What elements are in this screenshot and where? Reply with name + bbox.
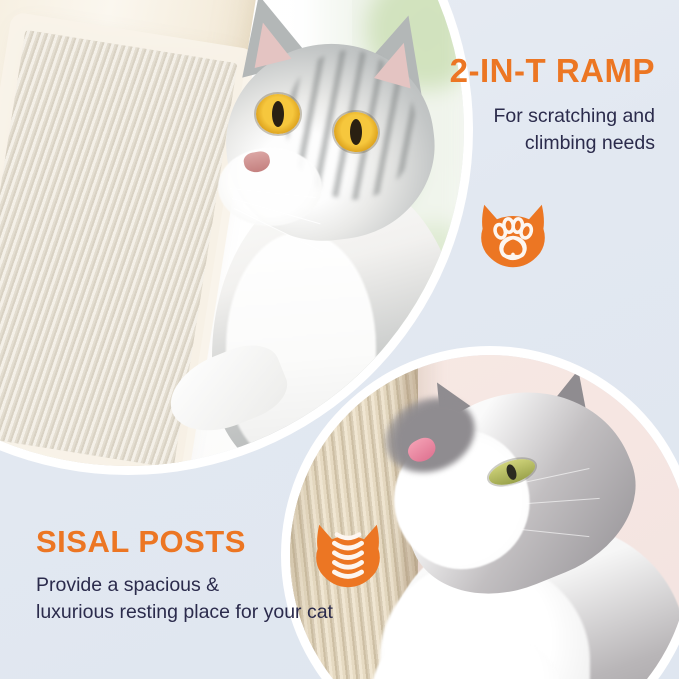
product-feature-collage: 2-IN-T RAMP For scratching and climbing … — [0, 0, 679, 679]
sisal-feature-title: SISAL POSTS — [36, 524, 246, 560]
cat-pupil-right — [350, 119, 362, 145]
cat-pupil-left — [272, 101, 284, 127]
sisal-feature-subtitle: Provide a spacious & luxurious resting p… — [36, 572, 333, 626]
cat-muzzle — [218, 148, 322, 226]
fluffy-cat — [352, 373, 679, 679]
paw-print-badge — [473, 192, 553, 272]
ramp-feature-title: 2-IN-T RAMP — [450, 52, 655, 90]
ramp-feature-subtitle: For scratching and climbing needs — [494, 103, 656, 157]
sisal-rope-badge — [308, 512, 388, 592]
